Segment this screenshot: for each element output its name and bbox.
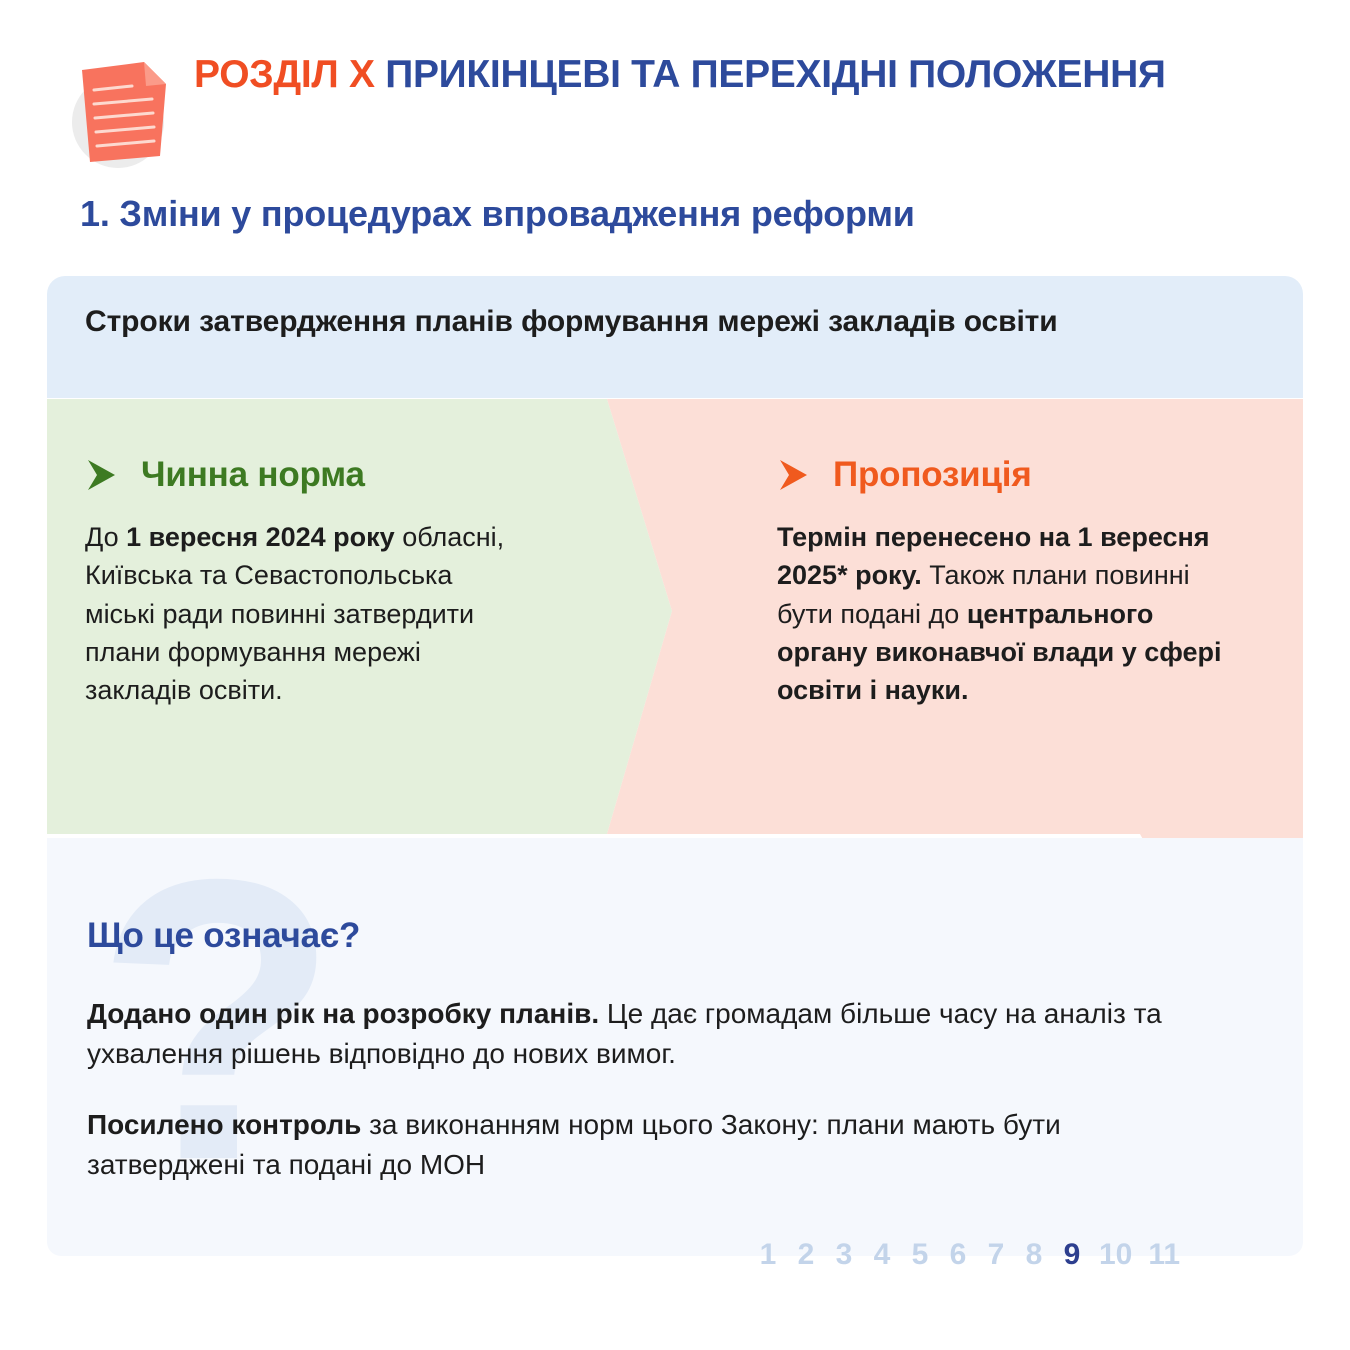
- page-number-active[interactable]: 9: [1061, 1238, 1083, 1272]
- page-header: РОЗДІЛ X ПРИКІНЦЕВІ ТА ПЕРЕХІДНІ ПОЛОЖЕН…: [60, 48, 1300, 170]
- banner: Строки затвердження планів формування ме…: [47, 276, 1303, 398]
- document-icon: [60, 50, 180, 170]
- panel-current-norm-header: Чинна норма: [85, 457, 525, 492]
- panel-proposal-header: Пропозиція: [777, 457, 1247, 492]
- pagination[interactable]: 1 2 3 4 5 6 7 8 9 10 11: [757, 1238, 1180, 1272]
- explanation-content: Що це означає? Додано один рік на розроб…: [47, 838, 1303, 1185]
- panel-proposal-label: Пропозиція: [833, 457, 1032, 492]
- page-number[interactable]: 8: [1023, 1238, 1045, 1272]
- infographic-page: РОЗДІЛ X ПРИКІНЦЕВІ ТА ПЕРЕХІДНІ ПОЛОЖЕН…: [0, 0, 1350, 1350]
- page-number[interactable]: 4: [871, 1238, 893, 1272]
- page-number[interactable]: 11: [1148, 1238, 1180, 1272]
- page-number[interactable]: 5: [909, 1238, 931, 1272]
- page-number[interactable]: 10: [1099, 1238, 1132, 1272]
- panel-current-norm-label: Чинна норма: [141, 457, 365, 492]
- page-number[interactable]: 6: [947, 1238, 969, 1272]
- banner-title: Строки затвердження планів формування ме…: [85, 302, 1265, 342]
- page-number[interactable]: 2: [795, 1238, 817, 1272]
- page-number[interactable]: 3: [833, 1238, 855, 1272]
- chevron-right-icon: [85, 458, 123, 492]
- page-title-accent: РОЗДІЛ X: [194, 53, 375, 96]
- explanation-heading: Що це означає?: [87, 916, 1263, 956]
- panel-current-norm-body: До 1 вересня 2024 року обласні, Київська…: [85, 518, 525, 710]
- page-title-text: РОЗДІЛ X ПРИКІНЦЕВІ ТА ПЕРЕХІДНІ ПОЛОЖЕН…: [194, 52, 1166, 97]
- panel-current-norm: Чинна норма До 1 вересня 2024 року облас…: [47, 399, 672, 834]
- explanation-paragraph: Додано один рік на розробку планів. Це д…: [87, 994, 1217, 1075]
- explanation-paragraph: Посилено контроль за виконанням норм цьо…: [87, 1105, 1217, 1186]
- explanation-section: ? Що це означає? Додано один рік на розр…: [47, 838, 1303, 1256]
- panel-current-norm-inner: Чинна норма До 1 вересня 2024 року облас…: [85, 457, 525, 710]
- panel-proposal-inner: Пропозиція Термін перенесено на 1 вересн…: [777, 457, 1247, 710]
- page-number[interactable]: 1: [757, 1238, 779, 1272]
- page-title: РОЗДІЛ X ПРИКІНЦЕВІ ТА ПЕРЕХІДНІ ПОЛОЖЕН…: [194, 48, 1166, 97]
- chevron-right-icon: [777, 458, 815, 492]
- panel-proposal-body: Термін перенесено на 1 вересня 2025* рок…: [777, 518, 1247, 710]
- page-number[interactable]: 7: [985, 1238, 1007, 1272]
- section-subtitle: 1. Зміни у процедурах впровадження рефор…: [80, 193, 915, 235]
- page-title-rest: ПРИКІНЦЕВІ ТА ПЕРЕХІДНІ ПОЛОЖЕННЯ: [375, 53, 1166, 96]
